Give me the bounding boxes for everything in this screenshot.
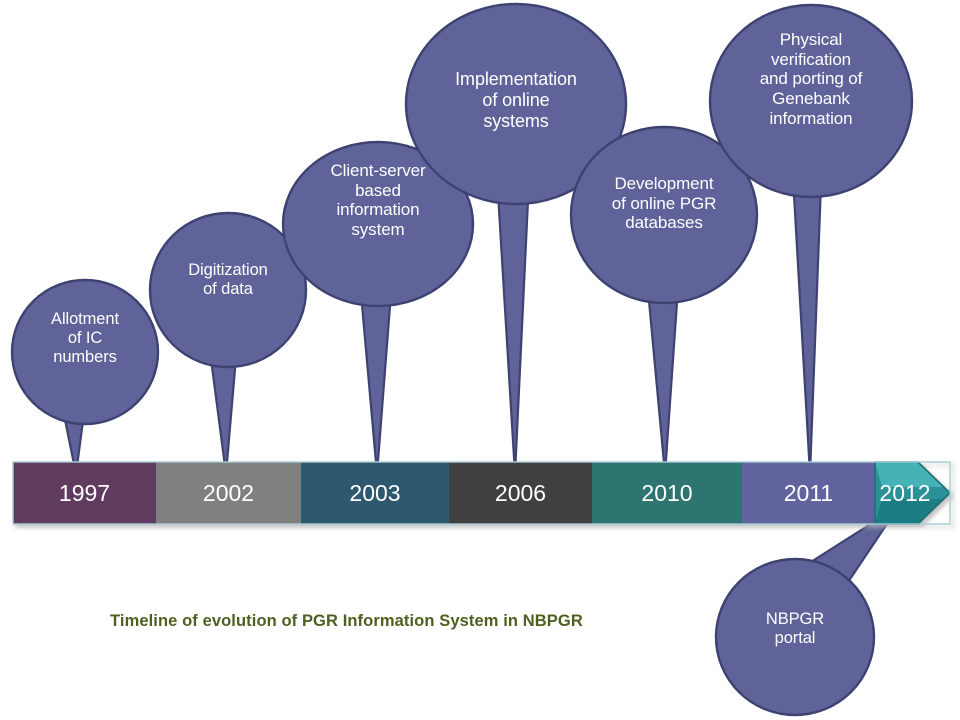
timeline-segment-2003[interactable] — [301, 462, 449, 524]
callout-bubble-1997[interactable] — [12, 280, 158, 424]
timeline-segment-2010[interactable] — [592, 462, 742, 524]
timeline-segment-2012[interactable] — [875, 462, 950, 524]
callout-bubble-2012[interactable] — [716, 559, 874, 715]
timeline-segment-2011[interactable] — [742, 462, 875, 524]
diagram-caption: Timeline of evolution of PGR Information… — [110, 612, 583, 631]
callout-bubble-2002[interactable] — [150, 213, 306, 367]
timeline-bar — [13, 462, 950, 524]
timeline-diagram: Allotment of IC numbers Digitization of … — [0, 0, 960, 720]
tail-2003 — [360, 280, 392, 474]
callout-bubbles — [12, 4, 912, 715]
timeline-segment-2006[interactable] — [449, 462, 592, 524]
callout-bubble-2011[interactable] — [710, 5, 912, 197]
tail-2006 — [496, 158, 530, 474]
tail-2011 — [792, 158, 822, 474]
timeline-segment-2002[interactable] — [156, 462, 301, 524]
tail-2010 — [648, 288, 678, 474]
timeline-segment-1997[interactable] — [13, 462, 156, 524]
